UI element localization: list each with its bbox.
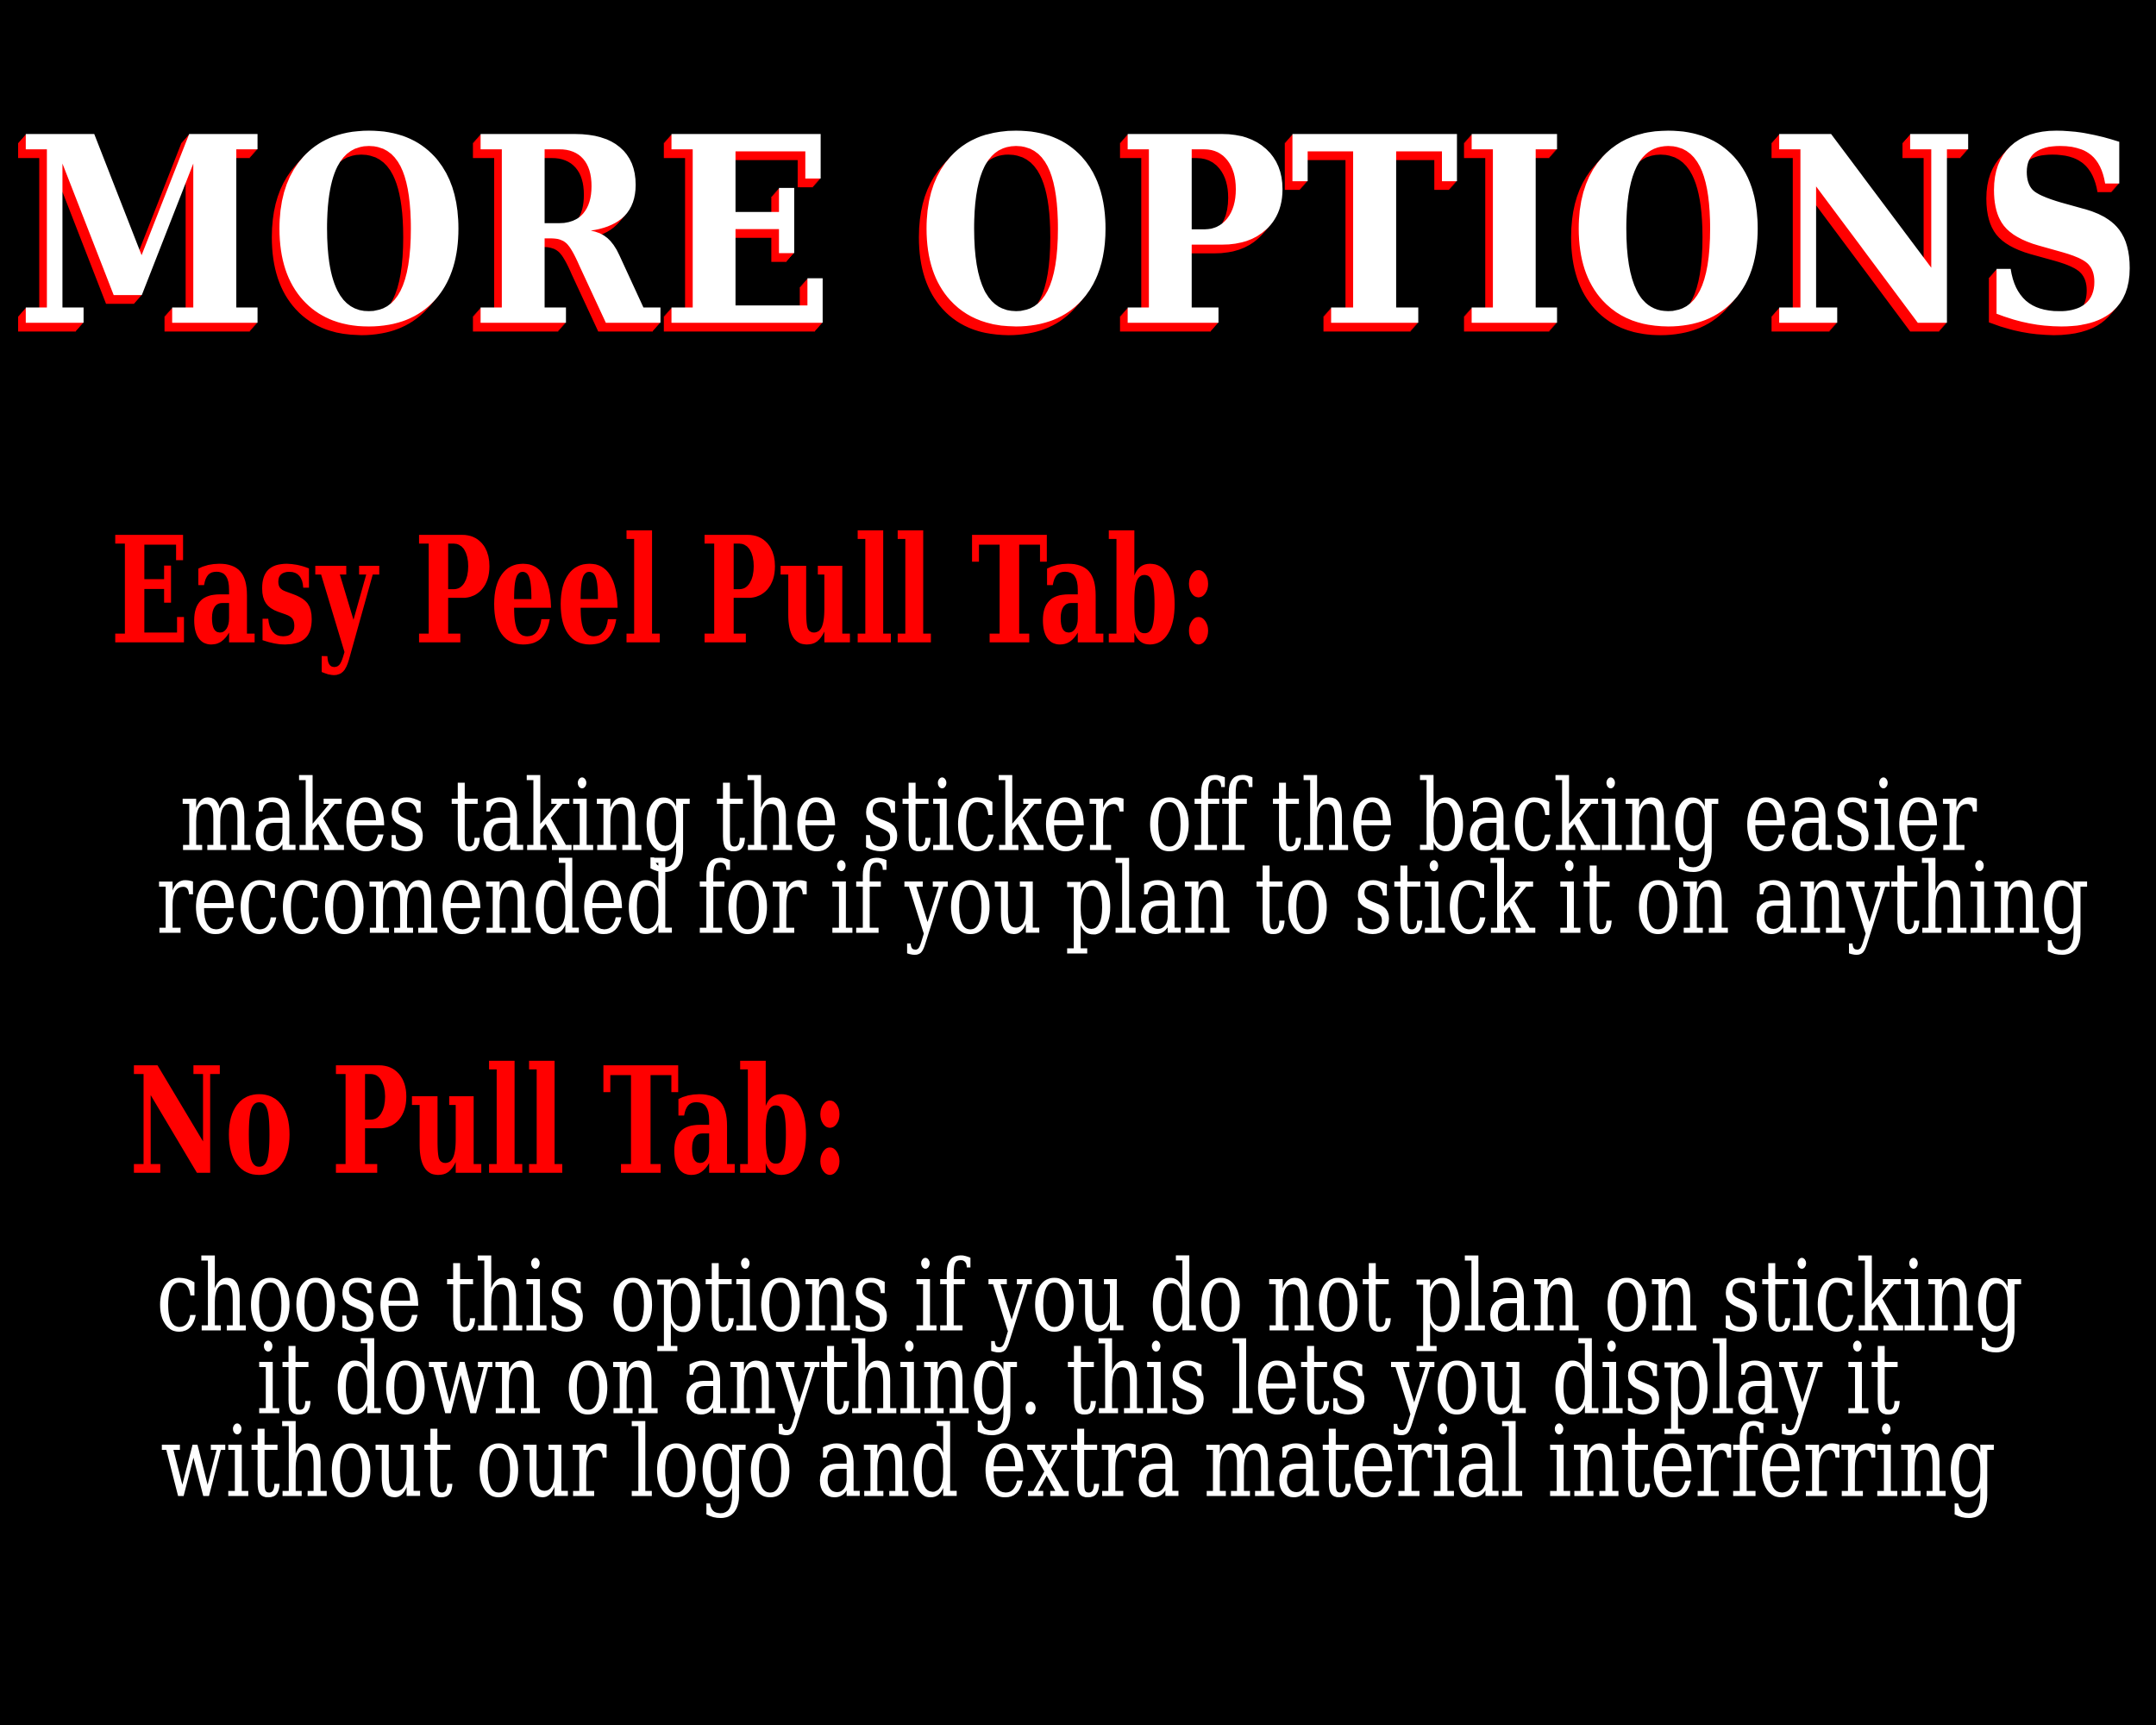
body-line: reccomended for if you plan to stick it …	[156, 853, 2000, 944]
body-line: without our logo and extra material inte…	[156, 1416, 2000, 1508]
page-title-text: MORE OPTIONS	[16, 103, 2146, 362]
section-body-no-pull-tab: choose this options if you do not plan o…	[0, 1255, 2156, 1503]
slide-canvas: MORE OPTIONS Easy Peel Pull Tab: makes t…	[0, 0, 2156, 1725]
section-heading-easy-peel-pull-tab: Easy Peel Pull Tab:	[110, 517, 1219, 665]
page-title: MORE OPTIONS	[0, 103, 2156, 335]
section-body-easy-peel-pull-tab: makes taking the sticker off the backing…	[0, 775, 2156, 940]
section-heading-no-pull-tab: No Pull Tab:	[129, 1048, 849, 1195]
